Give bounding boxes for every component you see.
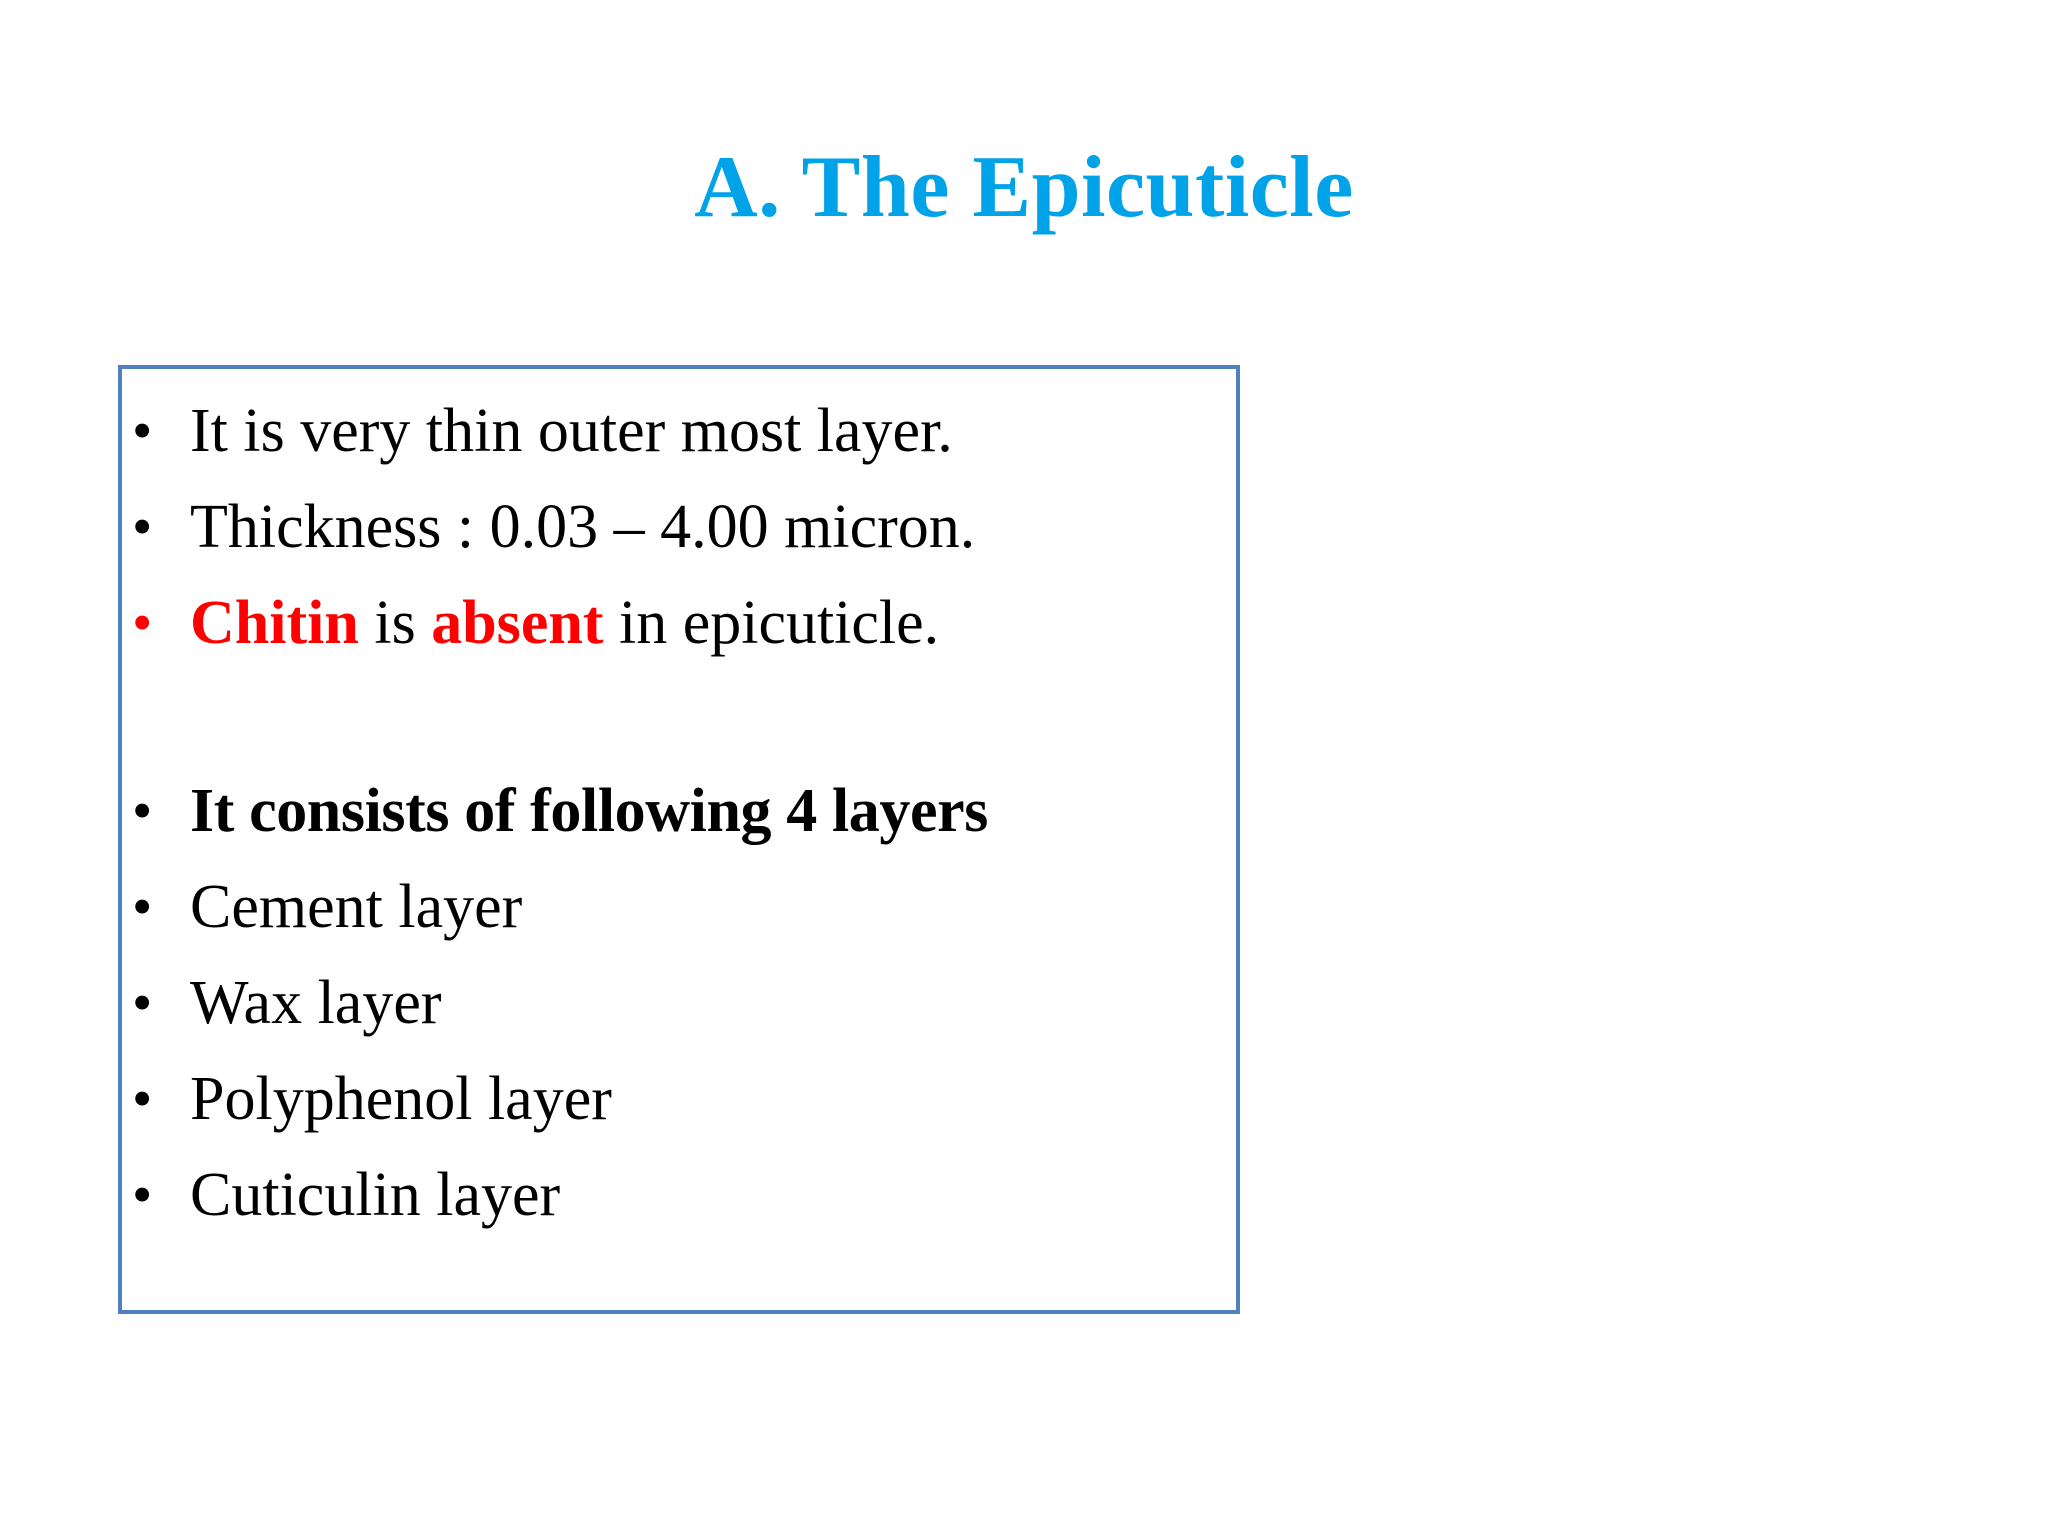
bullet-list: • It is very thin outer most layer. • Th… bbox=[122, 369, 1236, 1245]
page-title: A. The Epicuticle bbox=[0, 142, 2048, 234]
bullet-dot-icon: • bbox=[132, 1053, 190, 1145]
text-fragment-in-epicuticle: in epicuticle. bbox=[603, 589, 939, 657]
bullet-dot-icon: • bbox=[132, 481, 190, 573]
keyword-absent: absent bbox=[431, 589, 603, 657]
list-item: • Chitin is absent in epicuticle. bbox=[122, 577, 1236, 673]
list-item: • It is very thin outer most layer. bbox=[122, 385, 1236, 481]
bullet-dot-icon: • bbox=[132, 861, 190, 953]
list-item-label: It consists of following 4 layers bbox=[190, 765, 1236, 857]
list-item: • Thickness : 0.03 – 4.00 micron. bbox=[122, 481, 1236, 577]
list-item: • Cuticulin layer bbox=[122, 1149, 1236, 1245]
list-item-spacer bbox=[122, 673, 1236, 765]
slide-canvas: A. The Epicuticle • It is very thin oute… bbox=[0, 0, 2048, 1536]
bullet-dot-icon: • bbox=[132, 765, 190, 857]
list-item: • Polyphenol layer bbox=[122, 1053, 1236, 1149]
list-item-label: Wax layer bbox=[190, 957, 1236, 1049]
keyword-chitin: Chitin bbox=[190, 589, 359, 657]
list-item: • It consists of following 4 layers bbox=[122, 765, 1236, 861]
bullet-dot-icon: • bbox=[132, 957, 190, 1049]
list-item-label: Chitin is absent in epicuticle. bbox=[190, 577, 1236, 669]
bullet-dot-icon: • bbox=[132, 1149, 190, 1241]
bullet-dot-icon-hidden bbox=[132, 673, 190, 765]
list-item: • Cement layer bbox=[122, 861, 1236, 957]
bullet-dot-icon: • bbox=[132, 385, 190, 477]
list-item-label: Cement layer bbox=[190, 861, 1236, 953]
content-box: • It is very thin outer most layer. • Th… bbox=[118, 365, 1240, 1314]
list-item: • Wax layer bbox=[122, 957, 1236, 1053]
bullet-dot-icon-red: • bbox=[132, 577, 190, 669]
list-item-label: It is very thin outer most layer. bbox=[190, 385, 1236, 477]
list-item-label: Cuticulin layer bbox=[190, 1149, 1236, 1241]
text-fragment-is: is bbox=[359, 589, 431, 657]
list-item-label: Polyphenol layer bbox=[190, 1053, 1236, 1145]
list-item-label: Thickness : 0.03 – 4.00 micron. bbox=[190, 481, 1236, 573]
